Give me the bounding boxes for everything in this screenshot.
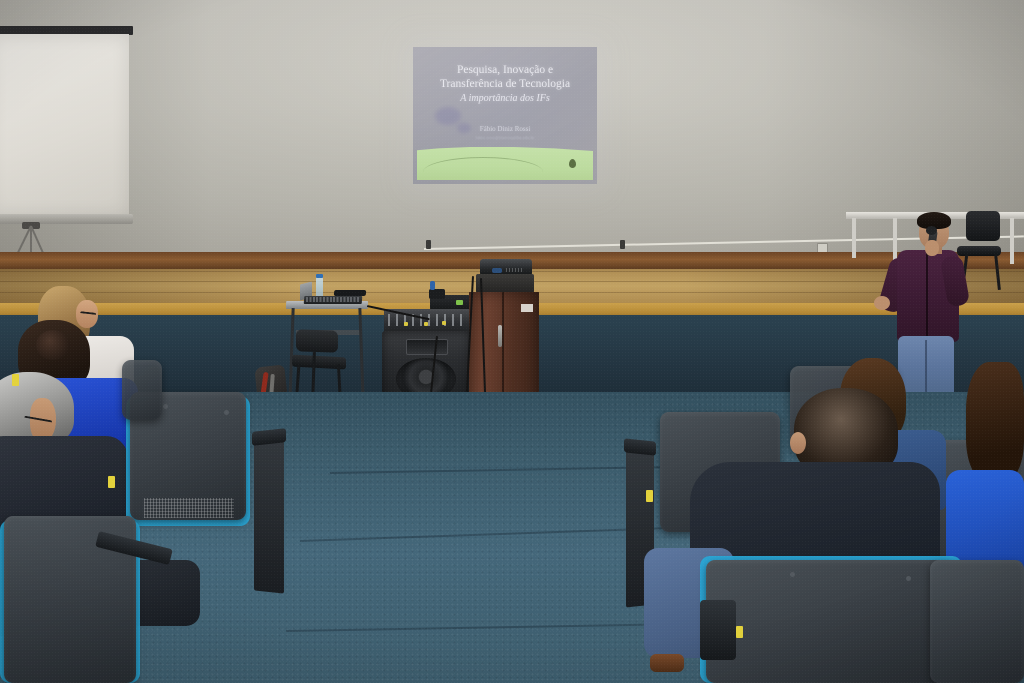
seat-pivot	[906, 576, 911, 581]
seat-number-sticker	[646, 490, 653, 502]
cable-clip-icon	[620, 240, 625, 249]
projection-screen	[0, 26, 133, 231]
projected-slide: Pesquisa, Inovação e Transferência de Te…	[413, 47, 597, 184]
slide-title: Pesquisa, Inovação e Transferência de Te…	[421, 63, 589, 91]
presenter-hand-right	[874, 296, 890, 310]
seat-pivot	[790, 572, 795, 577]
presenter-hand-left	[925, 240, 939, 256]
mixer-knob-icon	[404, 322, 408, 326]
projector-pad	[476, 274, 534, 293]
projector-vent	[506, 268, 524, 272]
seat-end-panel	[254, 434, 284, 593]
slide-subtitle: A importância dos IFs	[421, 93, 589, 104]
slide-title-line-2: Transferência de Tecnologia	[421, 77, 589, 91]
seat-pivot	[163, 404, 168, 409]
table-leg	[893, 218, 897, 260]
seat-number-sticker	[108, 476, 115, 488]
seat-number-sticker	[736, 626, 743, 638]
person-hair	[966, 362, 1024, 482]
seat-back	[122, 360, 162, 420]
bottle-cap	[316, 274, 323, 278]
laptop-keyboard	[306, 297, 359, 302]
person-shoe	[650, 654, 684, 672]
podium-handle	[498, 325, 502, 347]
seat-grille	[144, 498, 234, 518]
seat-back	[930, 560, 1024, 683]
table-leg	[1010, 218, 1014, 264]
person-ear	[790, 432, 806, 454]
microphone-head-icon	[926, 226, 937, 235]
seat-armrest	[700, 600, 736, 660]
power-indicator-icon	[456, 300, 463, 305]
slide-logo-icon	[569, 159, 576, 168]
slide-title-line-1: Pesquisa, Inovação e	[421, 63, 589, 77]
cable-clip-icon	[426, 240, 431, 249]
podium-label	[521, 304, 533, 312]
speaker-horn	[406, 339, 448, 355]
seat-number-sticker	[12, 374, 19, 386]
projector-lens-icon	[492, 268, 502, 273]
table-leg	[852, 218, 856, 258]
mixer-knob-icon	[424, 322, 428, 326]
seat-pivot	[224, 410, 229, 415]
slide-author: Fábio Diniz Rossi	[421, 125, 589, 133]
slide-email: fabio.rossi@ifarroupilha.edu.br	[421, 135, 589, 140]
seat-back	[706, 560, 956, 683]
screen-surface	[0, 34, 129, 216]
mixer-knob-icon	[442, 321, 446, 325]
cable-plug	[430, 281, 435, 290]
chair-back	[296, 329, 338, 352]
auditorium-photo: Pesquisa, Inovação e Transferência de Te…	[0, 0, 1024, 683]
slide-decoration	[435, 107, 461, 125]
shirt-placket	[926, 252, 928, 338]
wireless-receiver	[429, 289, 445, 299]
hair-bun	[36, 330, 70, 360]
office-chair-back	[966, 211, 1000, 241]
